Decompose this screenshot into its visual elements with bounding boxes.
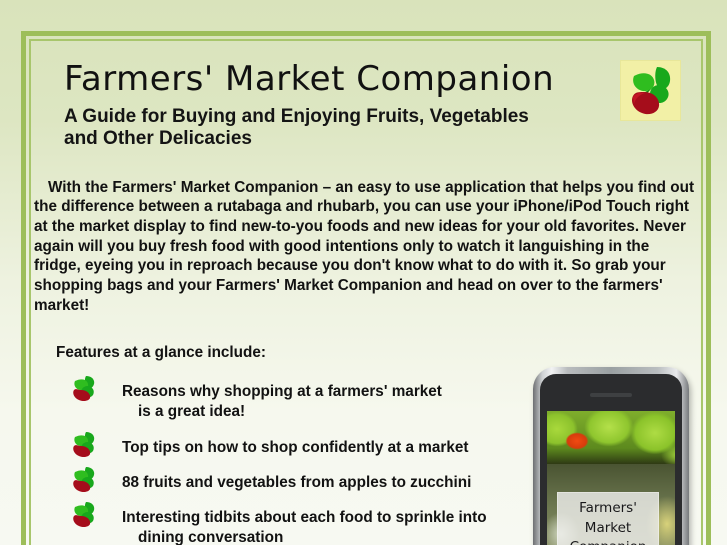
intro-paragraph: With the Farmers' Market Companion – an … xyxy=(34,178,699,316)
list-item-text: Reasons why shopping at a farmers' marke… xyxy=(122,382,540,422)
page-subtitle-line-1: A Guide for Buying and Enjoying Fruits, … xyxy=(64,106,594,128)
beet-bullet-icon xyxy=(70,466,98,492)
list-item: 88 fruits and vegetables from apples to … xyxy=(70,473,540,493)
list-item: Reasons why shopping at a farmers' marke… xyxy=(70,382,540,422)
list-item-text: Interesting tidbits about each food to s… xyxy=(122,508,540,545)
list-item: Interesting tidbits about each food to s… xyxy=(70,508,540,545)
features-list: Reasons why shopping at a farmers' marke… xyxy=(70,382,540,545)
peppers-photo xyxy=(547,411,675,464)
iphone-device: Farmers' Market Companion xyxy=(533,367,689,545)
list-item-text: Top tips on how to shop confidently at a… xyxy=(122,438,540,458)
iphone-speaker xyxy=(590,393,632,397)
list-item-line-2: is a great idea! xyxy=(122,402,540,422)
beet-logo-icon xyxy=(620,60,681,121)
page-title: Farmers' Market Companion xyxy=(64,62,699,96)
list-item-line-1: Reasons why shopping at a farmers' marke… xyxy=(122,383,442,400)
splash-title-label: Farmers' Market Companion xyxy=(557,492,659,545)
list-item-line-1: 88 fruits and vegetables from apples to … xyxy=(122,474,471,491)
iphone-face: Farmers' Market Companion xyxy=(540,374,682,545)
beet-bullet-icon xyxy=(70,375,98,401)
beet-bullet-icon xyxy=(70,431,98,457)
splash-line-3: Companion xyxy=(570,538,647,545)
splash-line-1: Farmers' xyxy=(579,499,637,519)
list-item-text: 88 fruits and vegetables from apples to … xyxy=(122,473,540,493)
list-item: Top tips on how to shop confidently at a… xyxy=(70,438,540,458)
flyer-page: Farmers' Market Companion A Guide for Bu… xyxy=(0,0,727,545)
page-subtitle-line-2: and Other Delicacies xyxy=(64,128,594,150)
list-item-line-1: Interesting tidbits about each food to s… xyxy=(122,509,487,526)
list-item-line-1: Top tips on how to shop confidently at a… xyxy=(122,439,468,456)
iphone-screen: Farmers' Market Companion xyxy=(547,411,675,545)
features-heading: Features at a glance include: xyxy=(56,344,699,362)
beet-bullet-icon xyxy=(70,501,98,527)
list-item-line-2: dining conversation xyxy=(122,528,540,545)
flyer-content: Farmers' Market Companion A Guide for Bu… xyxy=(34,44,699,545)
splash-line-2: Market xyxy=(585,519,631,539)
page-subtitle: A Guide for Buying and Enjoying Fruits, … xyxy=(64,106,594,150)
